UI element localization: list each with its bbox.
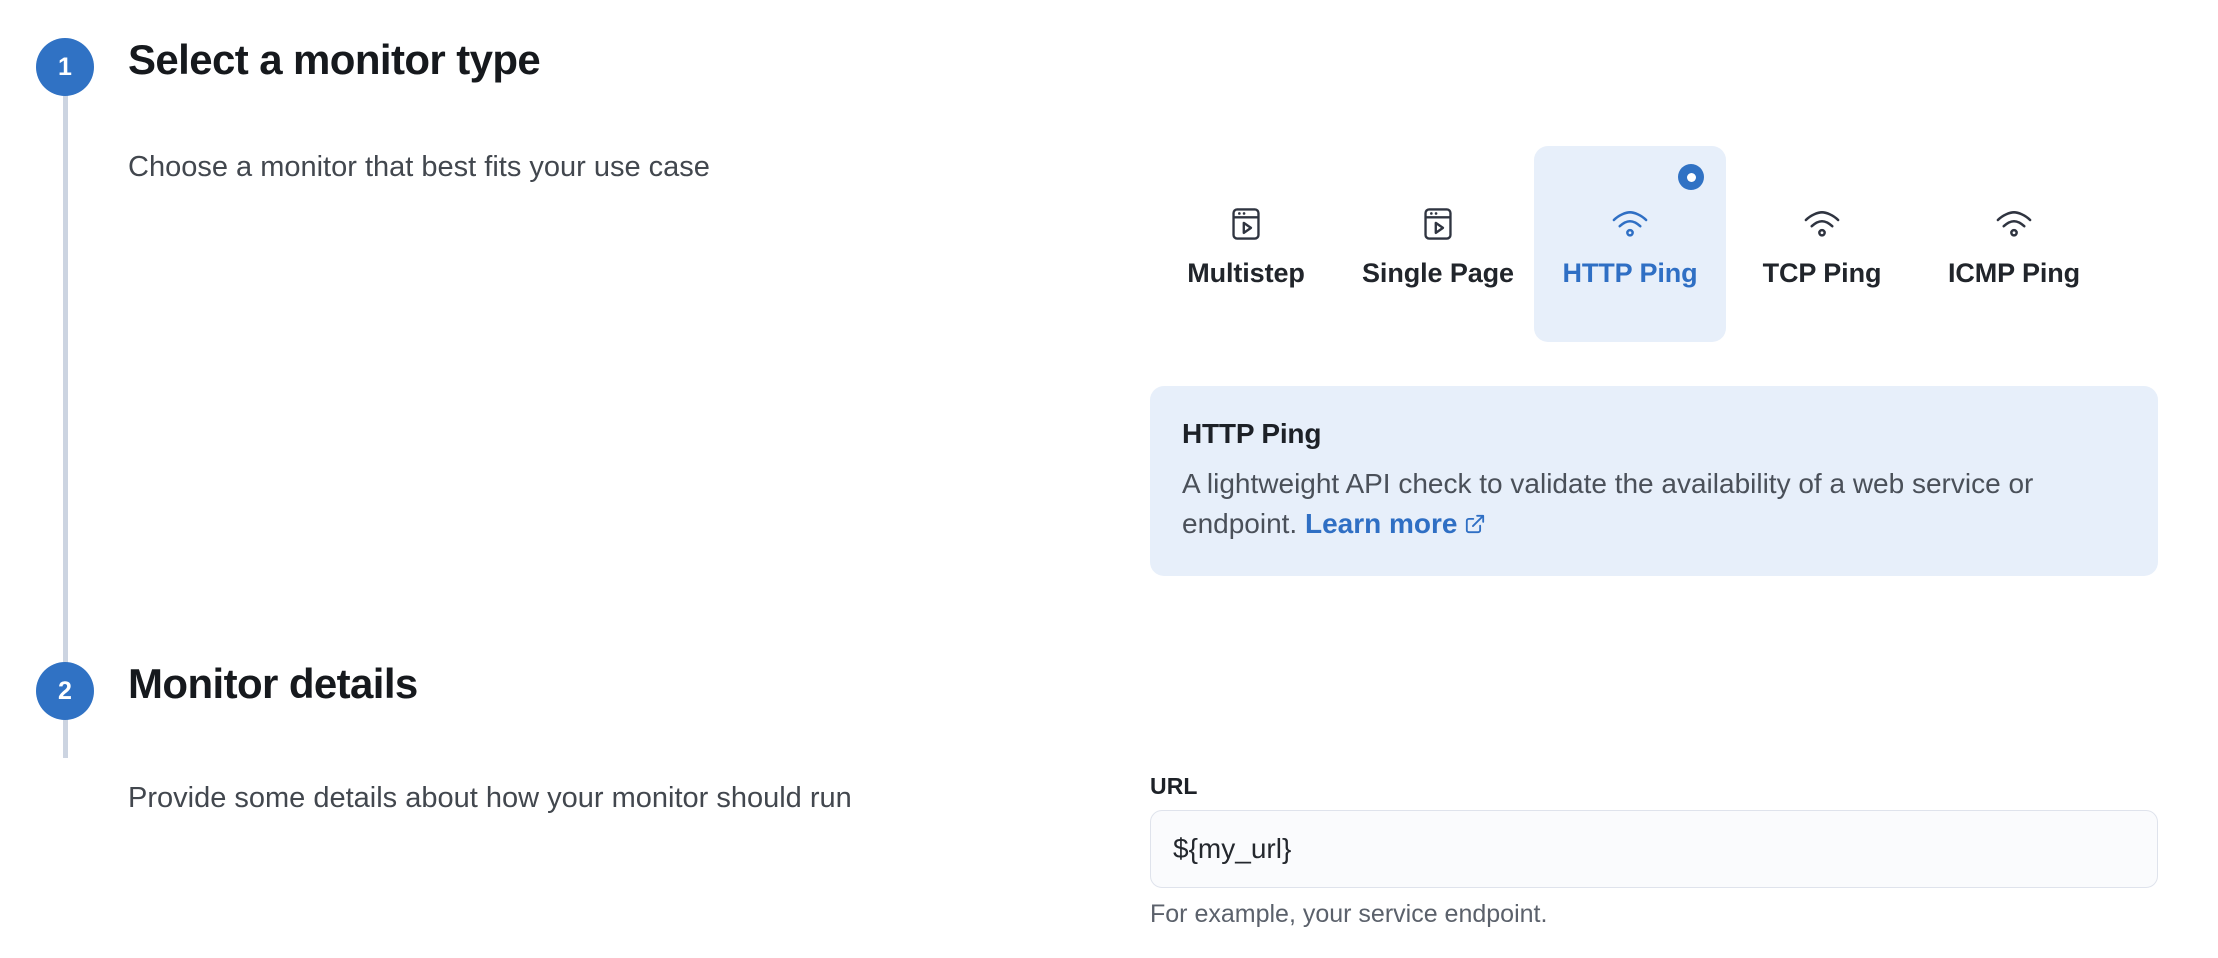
- step-1-title: Select a monitor type: [128, 36, 540, 84]
- monitor-type-selector: Multistep Single Page: [1150, 146, 2110, 342]
- step-2-subtitle: Provide some details about how your moni…: [128, 782, 852, 815]
- browser-play-icon: [1229, 202, 1263, 246]
- url-field-block: URL For example, your service endpoint.: [1150, 773, 2158, 929]
- wifi-icon: [1609, 202, 1651, 246]
- monitor-type-card-http-ping[interactable]: HTTP Ping: [1534, 146, 1726, 342]
- learn-more-label: Learn more: [1305, 508, 1458, 539]
- monitor-type-card-tcp-ping[interactable]: TCP Ping: [1726, 146, 1918, 342]
- learn-more-link[interactable]: Learn more: [1305, 508, 1486, 539]
- radio-selected-icon[interactable]: [1678, 164, 1704, 190]
- monitor-type-label: TCP Ping: [1763, 258, 1882, 289]
- url-field-label: URL: [1150, 773, 2158, 800]
- info-panel-title: HTTP Ping: [1182, 418, 2124, 450]
- info-panel-description: A lightweight API check to validate the …: [1182, 464, 2122, 546]
- monitor-type-label: Multistep: [1187, 258, 1305, 289]
- stepper-connector-line: [63, 68, 68, 758]
- step-2-badge: 2: [36, 662, 94, 720]
- monitor-type-card-single-page[interactable]: Single Page: [1342, 146, 1534, 342]
- step-1-badge: 1: [36, 38, 94, 96]
- monitor-type-label: HTTP Ping: [1562, 258, 1697, 289]
- step-2-number: 2: [58, 677, 72, 706]
- step-2-title: Monitor details: [128, 660, 418, 708]
- monitor-type-label: ICMP Ping: [1948, 258, 2080, 289]
- url-input[interactable]: [1150, 810, 2158, 888]
- url-field-help-text: For example, your service endpoint.: [1150, 900, 2158, 929]
- step-1-subtitle: Choose a monitor that best fits your use…: [128, 151, 710, 184]
- monitor-type-card-multistep[interactable]: Multistep: [1150, 146, 1342, 342]
- monitor-type-info-panel: HTTP Ping A lightweight API check to val…: [1150, 386, 2158, 576]
- monitor-type-card-icmp-ping[interactable]: ICMP Ping: [1918, 146, 2110, 342]
- step-1-number: 1: [58, 53, 72, 82]
- browser-play-icon: [1421, 202, 1455, 246]
- monitor-setup-wizard: 1 Select a monitor type Choose a monitor…: [0, 0, 2218, 958]
- monitor-type-label: Single Page: [1362, 258, 1514, 289]
- external-link-icon: [1464, 506, 1486, 546]
- wifi-icon: [1993, 202, 2035, 246]
- wifi-icon: [1801, 202, 1843, 246]
